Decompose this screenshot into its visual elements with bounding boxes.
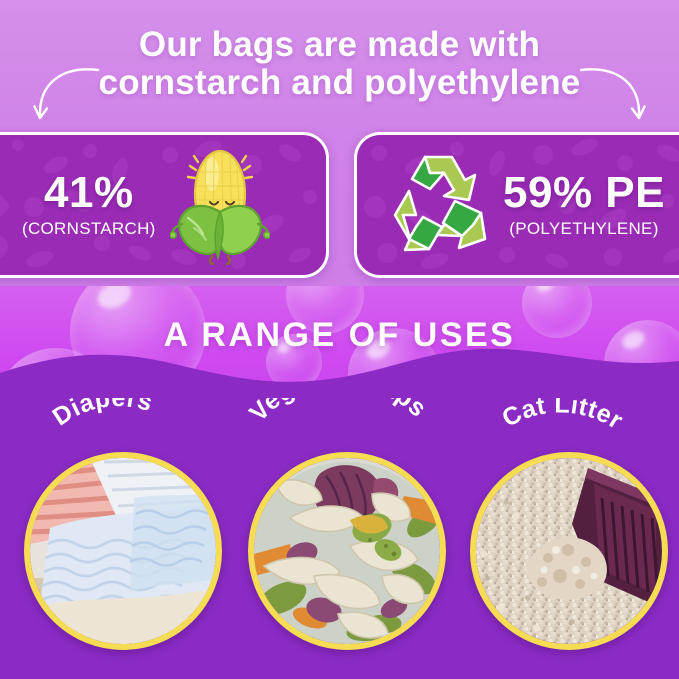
polyethylene-material-label: (POLYETHYLENE) [503, 219, 665, 239]
use-item-diapers[interactable]: Diapers [4, 404, 227, 669]
cornstarch-stat: 41% (CORNSTARCH) [22, 171, 156, 239]
cat-litter-photo [476, 458, 662, 644]
svg-text:Diapers: Diapers [48, 398, 156, 431]
veggie-scraps-photo [254, 458, 440, 644]
uses-list: Diapers [0, 404, 679, 679]
uses-section-title: A RANGE OF USES [0, 316, 679, 355]
diapers-photo [30, 458, 216, 644]
use-thumbnail-cat-litter[interactable] [470, 452, 668, 650]
corn-mascot-icon [156, 140, 270, 271]
headline-line-1: Our bags are made with [139, 25, 540, 64]
use-item-cat-litter[interactable]: Cat Litter [452, 404, 675, 669]
use-label-text: Diapers [48, 398, 156, 431]
use-label-text: Cat Litter [498, 398, 628, 435]
infographic-poster: Our bags are made with cornstarch and po… [0, 0, 679, 679]
uses-gallery-band: Diapers [0, 398, 679, 679]
use-label-text: Veggie Scraps [244, 398, 432, 427]
cornstarch-percent: 41% [22, 171, 156, 215]
cornstarch-material-label: (CORNSTARCH) [22, 219, 156, 239]
use-thumbnail-veggie-scraps[interactable] [248, 452, 446, 650]
composition-card-cornstarch: 41% (CORNSTARCH) [0, 132, 329, 278]
polyethylene-stat: 59% PE (POLYETHYLENE) [503, 171, 665, 239]
page-title: Our bags are made with cornstarch and po… [0, 26, 679, 102]
uses-header-band: A RANGE OF USES [0, 286, 679, 398]
use-item-veggie-scraps[interactable]: Veggie Scraps [228, 404, 451, 669]
use-thumbnail-diapers[interactable] [24, 452, 222, 650]
svg-text:Cat Litter: Cat Litter [498, 398, 628, 435]
header-band: Our bags are made with cornstarch and po… [0, 0, 679, 286]
recycle-arrows-icon [375, 151, 503, 260]
polyethylene-percent: 59% PE [503, 171, 665, 215]
svg-text:Veggie Scraps: Veggie Scraps [244, 398, 432, 427]
headline-line-2: cornstarch and polyethylene [0, 64, 679, 102]
composition-card-polyethylene: 59% PE (POLYETHYLENE) [354, 132, 679, 278]
